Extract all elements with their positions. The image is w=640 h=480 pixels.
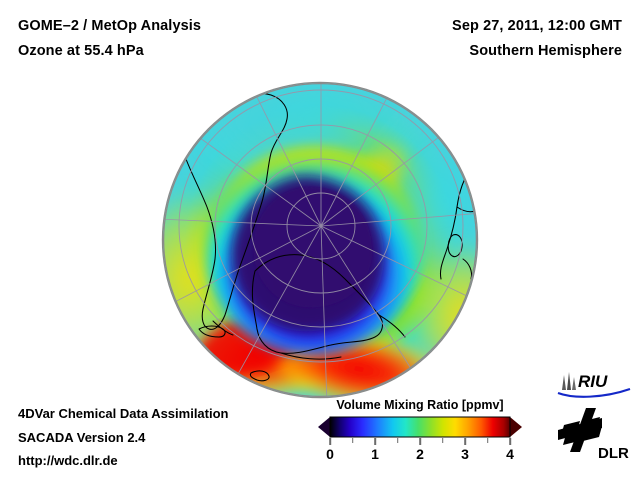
dlr-logo: DLR [556,408,634,464]
colorbar-tick-0: 0 [326,446,334,462]
footer-text: 4DVar Chemical Data Assimilation SACADA … [18,402,229,473]
colorbar-tick-labels: 0 1 2 3 4 [318,446,522,466]
riu-wordmark: RIU [578,372,608,391]
version-label: SACADA Version 2.4 [18,426,229,450]
timestamp-label: Sep 27, 2011, 12:00 GMT [452,14,622,39]
dlr-pinwheel-icon [558,408,602,452]
colorbar-tick-3: 3 [461,446,469,462]
colorbar-title: Volume Mixing Ratio [ppmv] [318,398,522,412]
colorbar-tick-1: 1 [371,446,379,462]
ozone-field-svg [163,83,477,397]
polar-projection-map [163,83,477,397]
visualization-canvas: GOME–2 / MetOp Analysis Ozone at 55.4 hP… [0,0,640,480]
colorbar-ticks [318,438,522,446]
colorbar-tick-2: 2 [416,446,424,462]
header-left: GOME–2 / MetOp Analysis Ozone at 55.4 hP… [18,14,201,64]
method-label: 4DVar Chemical Data Assimilation [18,402,229,426]
dlr-wordmark: DLR [598,445,629,462]
colorbar-extend-high [510,417,522,437]
dlr-logo-svg: DLR [556,408,634,464]
analysis-title: GOME–2 / MetOp Analysis [18,14,201,39]
colorbar: Volume Mixing Ratio [ppmv] [318,398,522,466]
ozone-field-layer [163,83,477,397]
analysis-subtitle: Ozone at 55.4 hPa [18,39,201,64]
colorbar-svg [318,416,522,438]
url-label[interactable]: http://wdc.dlr.de [18,449,229,473]
colorbar-tick-4: 4 [506,446,514,462]
riu-towers-icon [562,372,576,390]
hemisphere-label: Southern Hemisphere [452,39,622,64]
colorbar-gradient [318,416,522,438]
riu-logo: RIU [556,370,632,400]
globe-container [163,83,477,397]
header-right: Sep 27, 2011, 12:00 GMT Southern Hemisph… [452,14,622,64]
riu-logo-svg: RIU [556,370,632,400]
colorbar-extend-low [318,417,330,437]
